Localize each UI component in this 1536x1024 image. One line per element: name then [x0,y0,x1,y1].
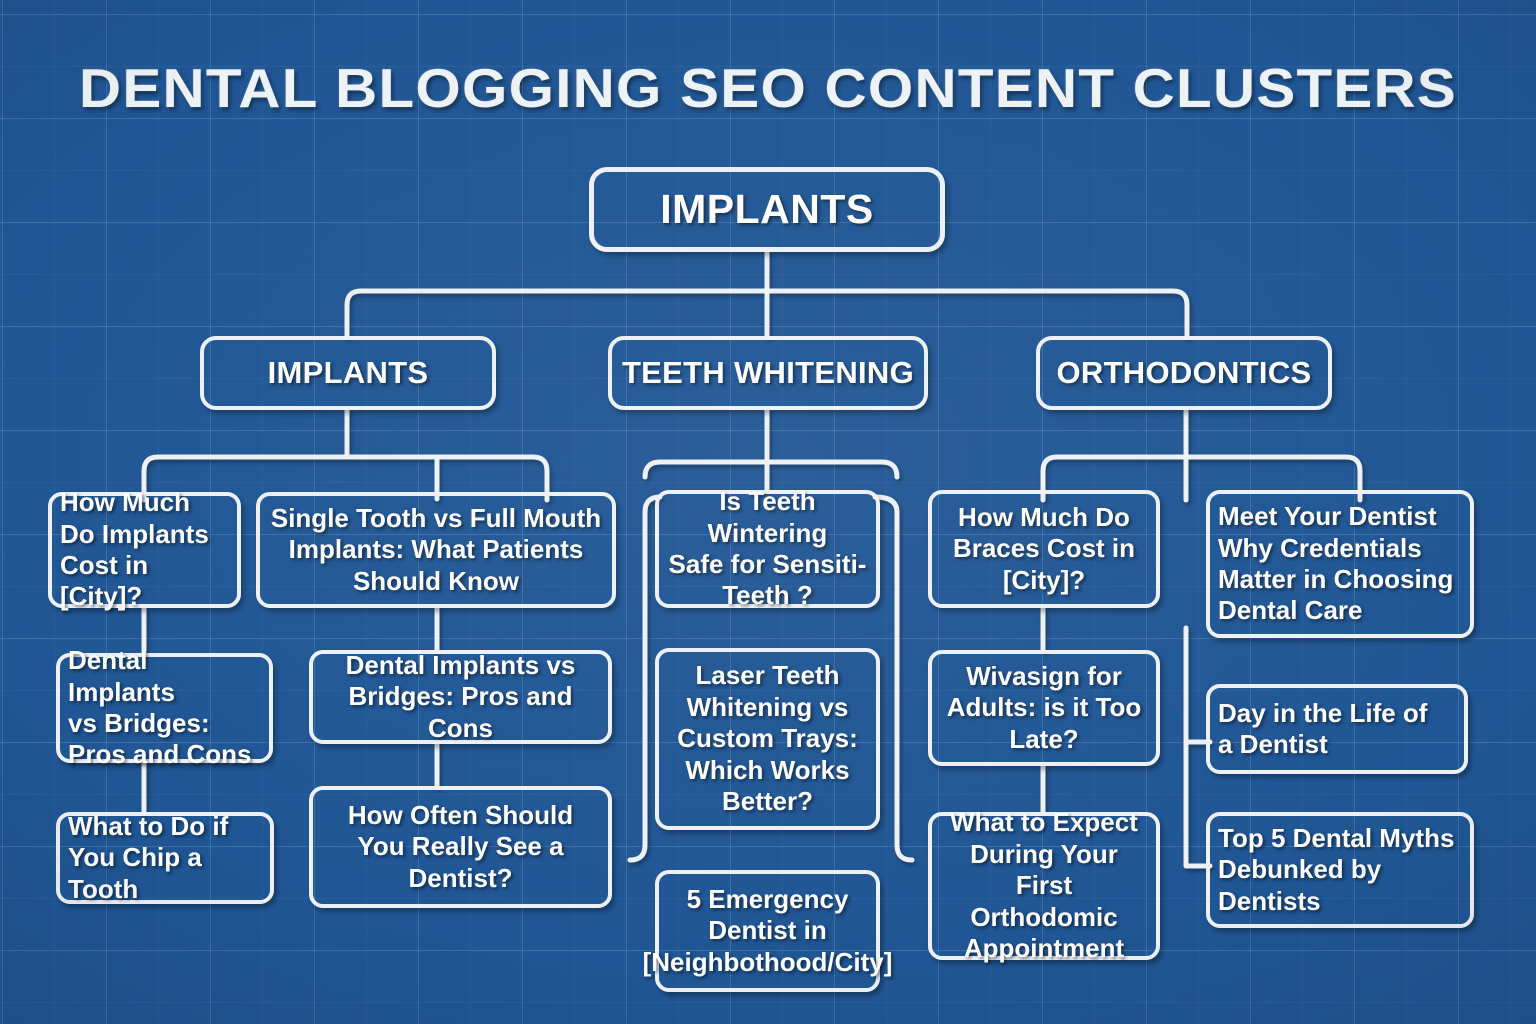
node-category-teeth-whitening[interactable]: TEETH WHITENING [608,336,928,410]
node-label: IMPLANTS [660,186,874,233]
node-leaf-implants-vs-bridges-a[interactable]: Dental Implants vs Bridges: Pros and Con… [56,653,273,763]
node-leaf-first-ortho-appointment[interactable]: What to Expect During Your First Orthodo… [928,812,1160,960]
node-label: Wivasign for Adults: is it Too Late? [947,661,1142,755]
node-label: ORTHODONTICS [1056,355,1311,391]
node-leaf-single-vs-full-mouth[interactable]: Single Tooth vs Full Mouth Implants: Wha… [256,492,616,608]
node-leaf-invisalign-adults[interactable]: Wivasign for Adults: is it Too Late? [928,650,1160,766]
node-label: Single Tooth vs Full Mouth Implants: Wha… [271,503,601,597]
node-label: Day in the Life of a Dentist [1218,698,1427,761]
node-label: TEETH WHITENING [622,355,914,391]
node-label: What to Do if You Chip a Tooth [68,811,262,905]
node-label: 5 Emergency Dentist in [Neighbothood/Cit… [643,884,893,978]
node-leaf-dental-myths[interactable]: Top 5 Dental Myths Debunked by Dentists [1206,812,1474,928]
node-label: IMPLANTS [268,355,429,391]
node-label: How Much Do Braces Cost in [City]? [953,502,1135,596]
node-label: What to Expect During Your First Orthodo… [940,807,1148,964]
node-leaf-laser-vs-trays[interactable]: Laser Teeth Whitening vs Custom Trays: W… [655,648,880,830]
node-category-orthodontics[interactable]: ORTHODONTICS [1036,336,1332,410]
node-leaf-sensitive-teeth-safe[interactable]: Is Teeth Wintering Safe for Sensiti- Tee… [655,490,880,608]
diagram-canvas: DENTAL BLOGGING SEO CONTENT CLUSTERS IMP… [0,0,1536,1024]
node-leaf-meet-your-dentist[interactable]: Meet Your Dentist Why Credentials Matter… [1206,490,1474,638]
node-leaf-how-often-see-dentist[interactable]: How Often Should You Really See a Dentis… [309,786,612,908]
node-leaf-chip-a-tooth[interactable]: What to Do if You Chip a Tooth [56,812,274,904]
node-label: How Much Do Implants Cost in [City]? [60,487,229,613]
node-label: Is Teeth Wintering Safe for Sensiti- Tee… [667,486,868,612]
node-leaf-emergency-dentist[interactable]: 5 Emergency Dentist in [Neighbothood/Cit… [655,870,880,992]
node-label: How Often Should You Really See a Dentis… [348,800,573,894]
node-category-implants[interactable]: IMPLANTS [200,336,496,410]
node-leaf-implants-vs-bridges-b[interactable]: Dental Implants vs Bridges: Pros and Con… [309,650,612,744]
node-label: Dental Implants vs Bridges: Pros and Con… [68,645,261,771]
node-label: Meet Your Dentist Why Credentials Matter… [1218,501,1453,627]
node-label: Dental Implants vs Bridges: Pros and Con… [321,650,600,744]
node-label: Top 5 Dental Myths Debunked by Dentists [1218,823,1454,917]
node-leaf-day-in-the-life[interactable]: Day in the Life of a Dentist [1206,684,1468,774]
node-label: Laser Teeth Whitening vs Custom Trays: W… [677,660,858,817]
node-root-implants[interactable]: IMPLANTS [589,167,945,252]
node-leaf-braces-cost[interactable]: How Much Do Braces Cost in [City]? [928,490,1160,608]
page-title: DENTAL BLOGGING SEO CONTENT CLUSTERS [0,56,1536,120]
node-leaf-implant-cost[interactable]: How Much Do Implants Cost in [City]? [48,492,241,608]
